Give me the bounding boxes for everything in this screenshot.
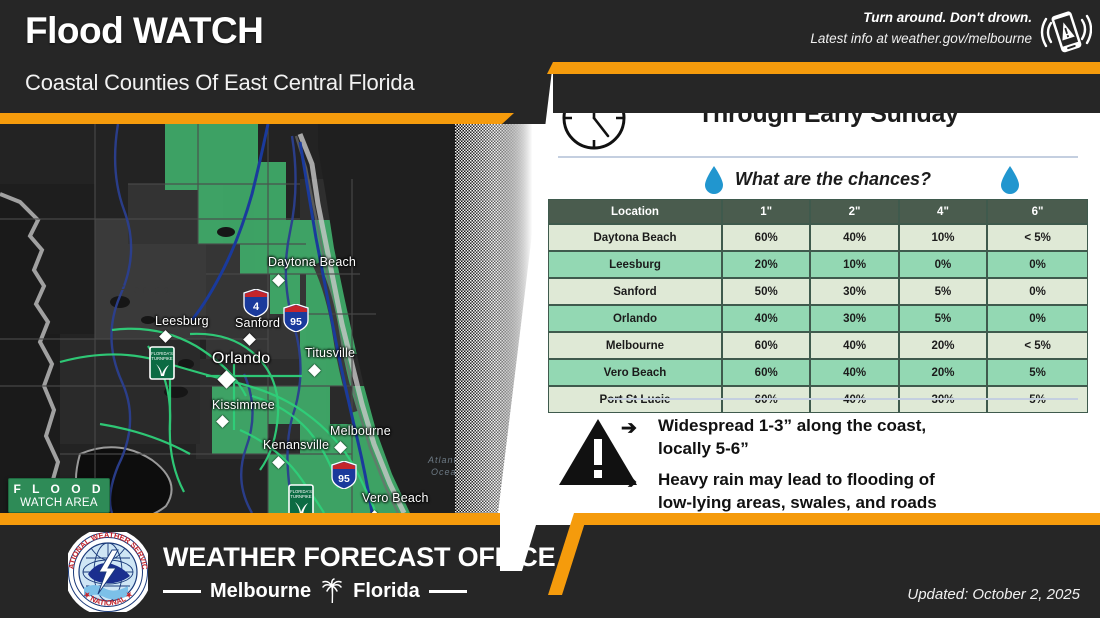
office-city: Melbourne (210, 580, 311, 603)
cell-4in: 0% (899, 251, 987, 278)
city-label: Vero Beach (362, 491, 429, 505)
row-location: Melbourne (548, 332, 722, 359)
decorative-dash-left (163, 590, 201, 593)
flood-watch-map: Daytona Beach Leesburg Sanford Titusvill… (0, 124, 500, 513)
svg-text:4: 4 (253, 301, 260, 313)
divider-top (558, 156, 1078, 158)
decorative-dash-right (429, 590, 467, 593)
cell-1in: 50% (722, 278, 810, 305)
rainfall-probability-table: Location 1" 2" 4" 6" Daytona Beach 60% 4… (548, 199, 1088, 413)
svg-text:95: 95 (338, 473, 350, 485)
accent-bar-top-right (529, 62, 1100, 74)
chances-title: What are the chances? (698, 169, 968, 190)
column-header-4in: 4" (899, 199, 987, 224)
cell-2in: 10% (810, 251, 898, 278)
flood-watch-area-legend: F L O O D WATCH AREA (8, 478, 110, 513)
city-label: Sanford (235, 316, 280, 330)
column-header-1in: 1" (722, 199, 810, 224)
office-location: Melbourne Florida (163, 578, 467, 604)
interstate-95-shield-icon: 95 (331, 461, 357, 489)
cell-2in: 40% (810, 332, 898, 359)
cell-2in: 30% (810, 305, 898, 332)
row-location: Orlando (548, 305, 722, 332)
cell-1in: 60% (722, 332, 810, 359)
cell-4in: 5% (899, 305, 987, 332)
city-label: Kenansville (263, 438, 329, 452)
city-label: Leesburg (155, 314, 209, 328)
cell-1in: 40% (722, 305, 810, 332)
arrow-right-icon: ➔ (621, 417, 637, 440)
water-drop-icon (1000, 166, 1020, 194)
table-row: Melbourne 60% 40% 20% < 5% (548, 332, 1088, 359)
cell-6in: < 5% (987, 332, 1088, 359)
row-location: Sanford (548, 278, 722, 305)
column-header-location: Location (548, 199, 722, 224)
city-label: Kissimmee (212, 398, 275, 412)
state-name-label: Florida (118, 284, 173, 296)
florida-turnpike-shield-icon: FLORIDA'S TURNPIKE (149, 346, 175, 380)
column-header-6in: 6" (987, 199, 1088, 224)
legend-subtitle: WATCH AREA (20, 497, 98, 509)
cell-6in: 5% (987, 359, 1088, 386)
page-subtitle: Coastal Counties Of East Central Florida (25, 70, 414, 96)
city-label: Titusville (305, 346, 355, 360)
table-row: Leesburg 20% 10% 0% 0% (548, 251, 1088, 278)
updated-timestamp: Updated: October 2, 2025 (907, 586, 1080, 603)
cell-6in: 0% (987, 305, 1088, 332)
row-location: Vero Beach (548, 359, 722, 386)
legend-title: F L O O D (13, 482, 104, 496)
cell-1in: 20% (722, 251, 810, 278)
table-row: Orlando 40% 30% 5% 0% (548, 305, 1088, 332)
svg-text:95: 95 (290, 316, 302, 328)
cell-1in: 60% (722, 224, 810, 251)
column-header-2in: 2" (810, 199, 898, 224)
city-label: Melbourne (330, 424, 391, 438)
arrow-right-icon: ➔ (621, 471, 637, 494)
cell-1in: 60% (722, 359, 810, 386)
cell-4in: 20% (899, 359, 987, 386)
palm-tree-icon (320, 578, 344, 604)
bullet-text: Widespread 1-3” along the coast,locally … (658, 414, 926, 460)
cell-4in: 5% (899, 278, 987, 305)
city-label: Daytona Beach (268, 255, 356, 269)
office-title: WEATHER FORECAST OFFICE (163, 542, 555, 573)
table-row: Daytona Beach 60% 40% 10% < 5% (548, 224, 1088, 251)
cell-4in: 20% (899, 332, 987, 359)
divider-bottom (608, 398, 1078, 400)
cell-6in: 0% (987, 251, 1088, 278)
cell-6in: < 5% (987, 224, 1088, 251)
interstate-4-shield-icon: 4 (243, 289, 269, 317)
cell-6in: 0% (987, 278, 1088, 305)
florida-turnpike-shield-icon: FLORIDA'S TURNPIKE (288, 484, 314, 513)
svg-text:TURNPIKE: TURNPIKE (290, 494, 311, 499)
forecast-panel: Through Early Sunday What are the chance… (498, 62, 1100, 513)
row-location: Daytona Beach (548, 224, 722, 251)
row-location: Leesburg (548, 251, 722, 278)
table-header-row: Location 1" 2" 4" 6" (548, 199, 1088, 224)
cell-2in: 40% (810, 359, 898, 386)
city-label: Orlando (212, 350, 270, 368)
svg-text:TURNPIKE: TURNPIKE (151, 356, 172, 361)
table-row: Vero Beach 60% 40% 20% 5% (548, 359, 1088, 386)
phone-alert-icon (1040, 8, 1092, 56)
page-title: Flood WATCH (25, 10, 263, 52)
cell-4in: 10% (899, 224, 987, 251)
info-url-text: Latest info at weather.gov/melbourne (810, 31, 1032, 46)
cell-2in: 30% (810, 278, 898, 305)
cell-2in: 40% (810, 224, 898, 251)
safety-tagline: Turn around. Don't drown. (863, 10, 1032, 25)
accent-bar-top-left (0, 113, 500, 124)
nws-seal-logo: NATIONAL WEATHER SERVICE ★ NATIONAL ★ (68, 532, 148, 612)
interstate-95-shield-icon: 95 (283, 304, 309, 332)
bullet-text: Heavy rain may lead to flooding oflow-ly… (658, 468, 937, 514)
table-row: Sanford 50% 30% 5% 0% (548, 278, 1088, 305)
office-state: Florida (353, 580, 420, 603)
